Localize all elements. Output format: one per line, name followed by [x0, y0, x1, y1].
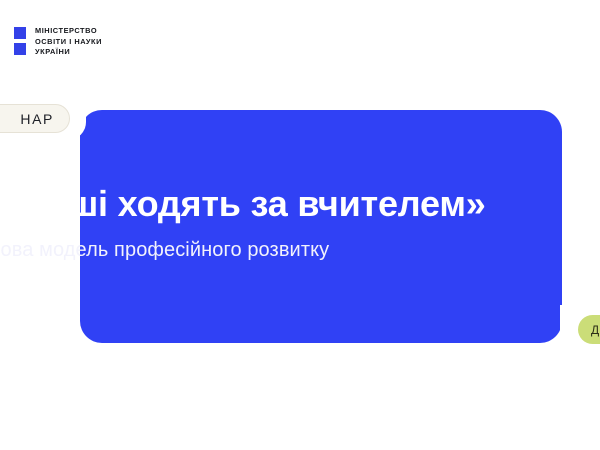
webinar-tab[interactable]: НАР — [0, 104, 70, 133]
logo-line-2: ОСВІТИ І НАУКИ — [35, 37, 102, 47]
webinar-tab-label: НАР — [20, 111, 54, 127]
logo-line-1: МІНІСТЕРСТВО — [35, 26, 102, 36]
status-badge[interactable]: Д — [578, 315, 600, 344]
badge-corner-notch — [560, 305, 580, 353]
page-title: «Гроші ходять за вчителем» — [0, 182, 600, 226]
hero-text-block: «Гроші ходять за вчителем» Нова модель п… — [0, 182, 600, 263]
ministry-logo: МІНІСТЕРСТВО ОСВІТИ І НАУКИ УКРАЇНИ — [14, 26, 102, 57]
logo-mark — [14, 26, 26, 55]
logo-wordmark: МІНІСТЕРСТВО ОСВІТИ І НАУКИ УКРАЇНИ — [35, 26, 102, 57]
status-badge-label: Д — [591, 323, 599, 337]
logo-square-icon — [14, 27, 26, 39]
logo-square-icon — [14, 43, 26, 55]
page-subtitle: Нова модель професійного розвитку — [0, 237, 600, 263]
logo-line-3: УКРАЇНИ — [35, 47, 102, 57]
